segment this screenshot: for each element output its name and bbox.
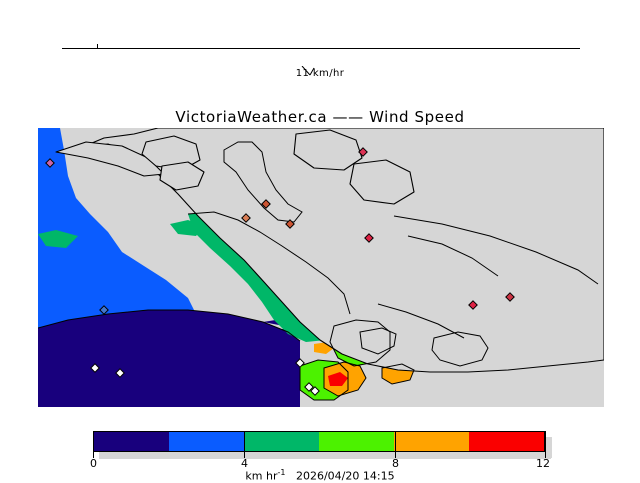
wind-reference-vector: 11 km/hr xyxy=(0,30,640,70)
reference-vector-barb xyxy=(97,44,98,49)
page-title: VictoriaWeather.ca —— Wind Speed xyxy=(0,108,640,126)
colorbar-shadow xyxy=(99,452,551,459)
colorbar-tick-12 xyxy=(545,431,546,458)
reference-vector-line xyxy=(62,48,580,49)
colorbar-segment-10-12[interactable] xyxy=(469,432,544,451)
colorbar-overflow-block xyxy=(545,437,552,458)
colorbar-segment-4-6[interactable] xyxy=(244,432,319,451)
timestamp-label: 2026/04/20 14:15 xyxy=(296,470,395,483)
colorbar-segment-2-4[interactable] xyxy=(169,432,244,451)
colorbar-tick-4 xyxy=(244,431,245,458)
colorbar-segment-8-10[interactable] xyxy=(394,432,469,451)
wind-speed-map[interactable] xyxy=(38,128,604,407)
band-navy-southwest xyxy=(38,310,300,407)
colorbar-caption: km hr-1 2026/04/20 14:15 xyxy=(0,468,640,483)
colorbar-tick-0 xyxy=(93,431,94,458)
colorbar-tick-8 xyxy=(395,431,396,458)
reference-vector-label: 11 km/hr xyxy=(0,68,640,79)
unit-label: km hr xyxy=(245,470,277,483)
unit-exponent: -1 xyxy=(277,468,285,477)
colorbar-segment-6-8[interactable] xyxy=(319,432,394,451)
map-canvas[interactable] xyxy=(38,128,604,407)
wind-speed-colorbar[interactable] xyxy=(93,431,545,452)
colorbar-segment-0-2[interactable] xyxy=(94,432,169,451)
